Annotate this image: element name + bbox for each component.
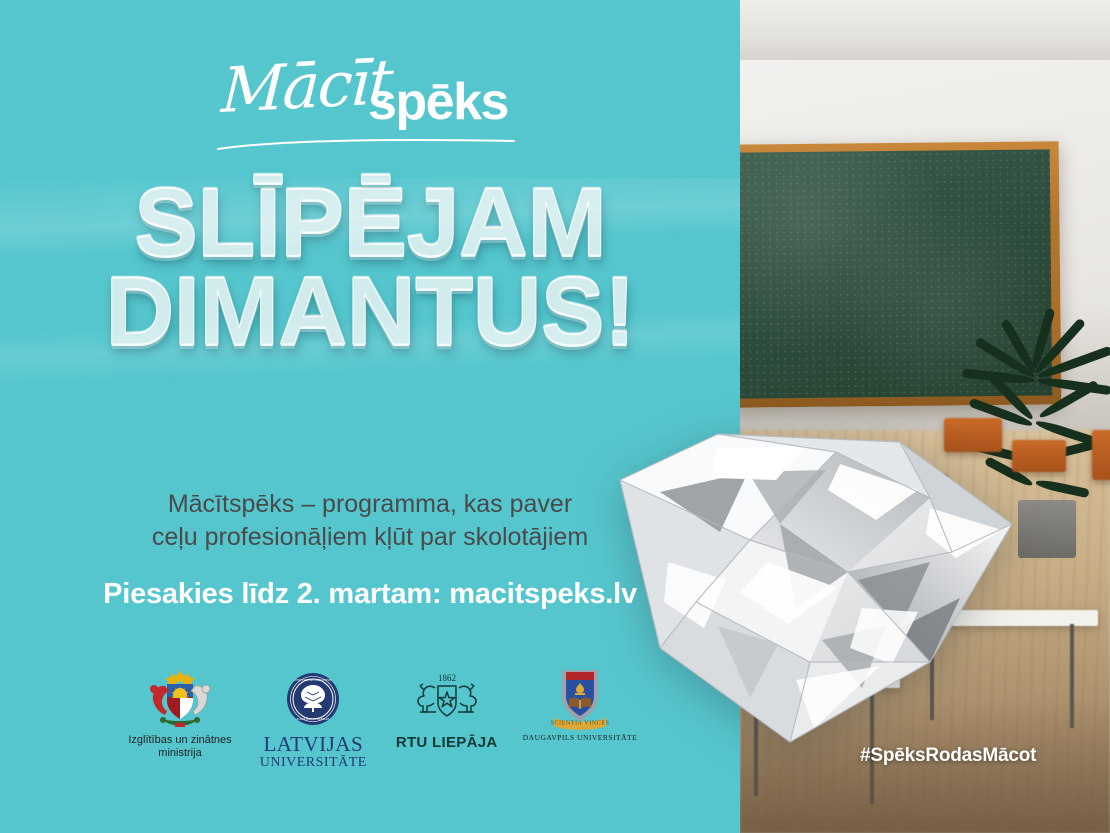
partner-lu-caption-1: LATVIJAS <box>253 734 373 755</box>
brand-logo: Mācīt spēks <box>0 62 740 162</box>
logo-underline-swoosh <box>216 138 516 150</box>
poster-canvas: Mācīt spēks SLĪPĒJAM DIMANTUS! Mācītspēk… <box>0 0 1110 833</box>
partner-lu-caption-2: UNIVERSITĀTE <box>253 755 373 772</box>
partner-du-caption-1: DAUGAVPILS UNIVERSITĀTE <box>520 734 640 743</box>
rtu-crest-icon: 1862 <box>387 668 507 730</box>
headline-line-2: DIMANTUS! <box>0 267 740 356</box>
description-text: Mācītspēks – programma, kas paver ceļu p… <box>0 488 740 554</box>
logo-bold-text: spēks <box>368 76 508 128</box>
call-to-action[interactable]: Piesakies līdz 2. martam: macitspeks.lv <box>0 578 740 611</box>
svg-text:SCIENTIAE ET PATRIAE: SCIENTIAE ET PATRIAE <box>297 717 330 721</box>
ceiling <box>740 0 1110 62</box>
partner-izm-caption-1: Izglītības un zinātnes <box>120 734 240 747</box>
partner-izm-caption-2: ministrija <box>120 747 240 760</box>
rtu-year: 1862 <box>438 673 456 683</box>
plant-frond <box>1035 478 1090 498</box>
du-motto: SCIENTIA VINCES <box>550 721 609 727</box>
du-shield-icon: SCIENTIA VINCES <box>520 668 640 730</box>
description-line-1: Mācītspēks – programma, kas paver <box>0 488 740 521</box>
partner-lu: UNIVERSITAS LATVIENSIS SCIENTIAE ET PATR… <box>253 668 373 772</box>
lu-tree-seal-icon: UNIVERSITAS LATVIENSIS SCIENTIAE ET PATR… <box>253 668 373 730</box>
page-title: SLĪPĒJAM DIMANTUS! <box>0 178 740 357</box>
hashtag: #SpēksRodasMācot <box>860 745 1100 767</box>
description-line-2: ceļu profesionāļiem kļūt par skolotājiem <box>0 521 740 554</box>
logo-script-text: Mācīt <box>220 51 393 122</box>
partner-izm: Izglītības un zinātnes ministrija <box>120 668 240 759</box>
latvian-coat-of-arms-icon <box>120 668 240 730</box>
partner-rtu: 1862 RTU LIEPĀJA <box>387 668 507 751</box>
partner-logos: Izglītības un zinātnes ministrija <box>120 668 640 778</box>
partner-rtu-caption-1: RTU LIEPĀJA <box>387 734 507 751</box>
chair <box>1092 430 1110 480</box>
svg-text:UNIVERSITAS LATVIENSIS: UNIVERSITAS LATVIENSIS <box>295 678 333 682</box>
partner-du: SCIENTIA VINCES DAUGAVPILS UNIVERSITĀTE <box>520 668 640 743</box>
